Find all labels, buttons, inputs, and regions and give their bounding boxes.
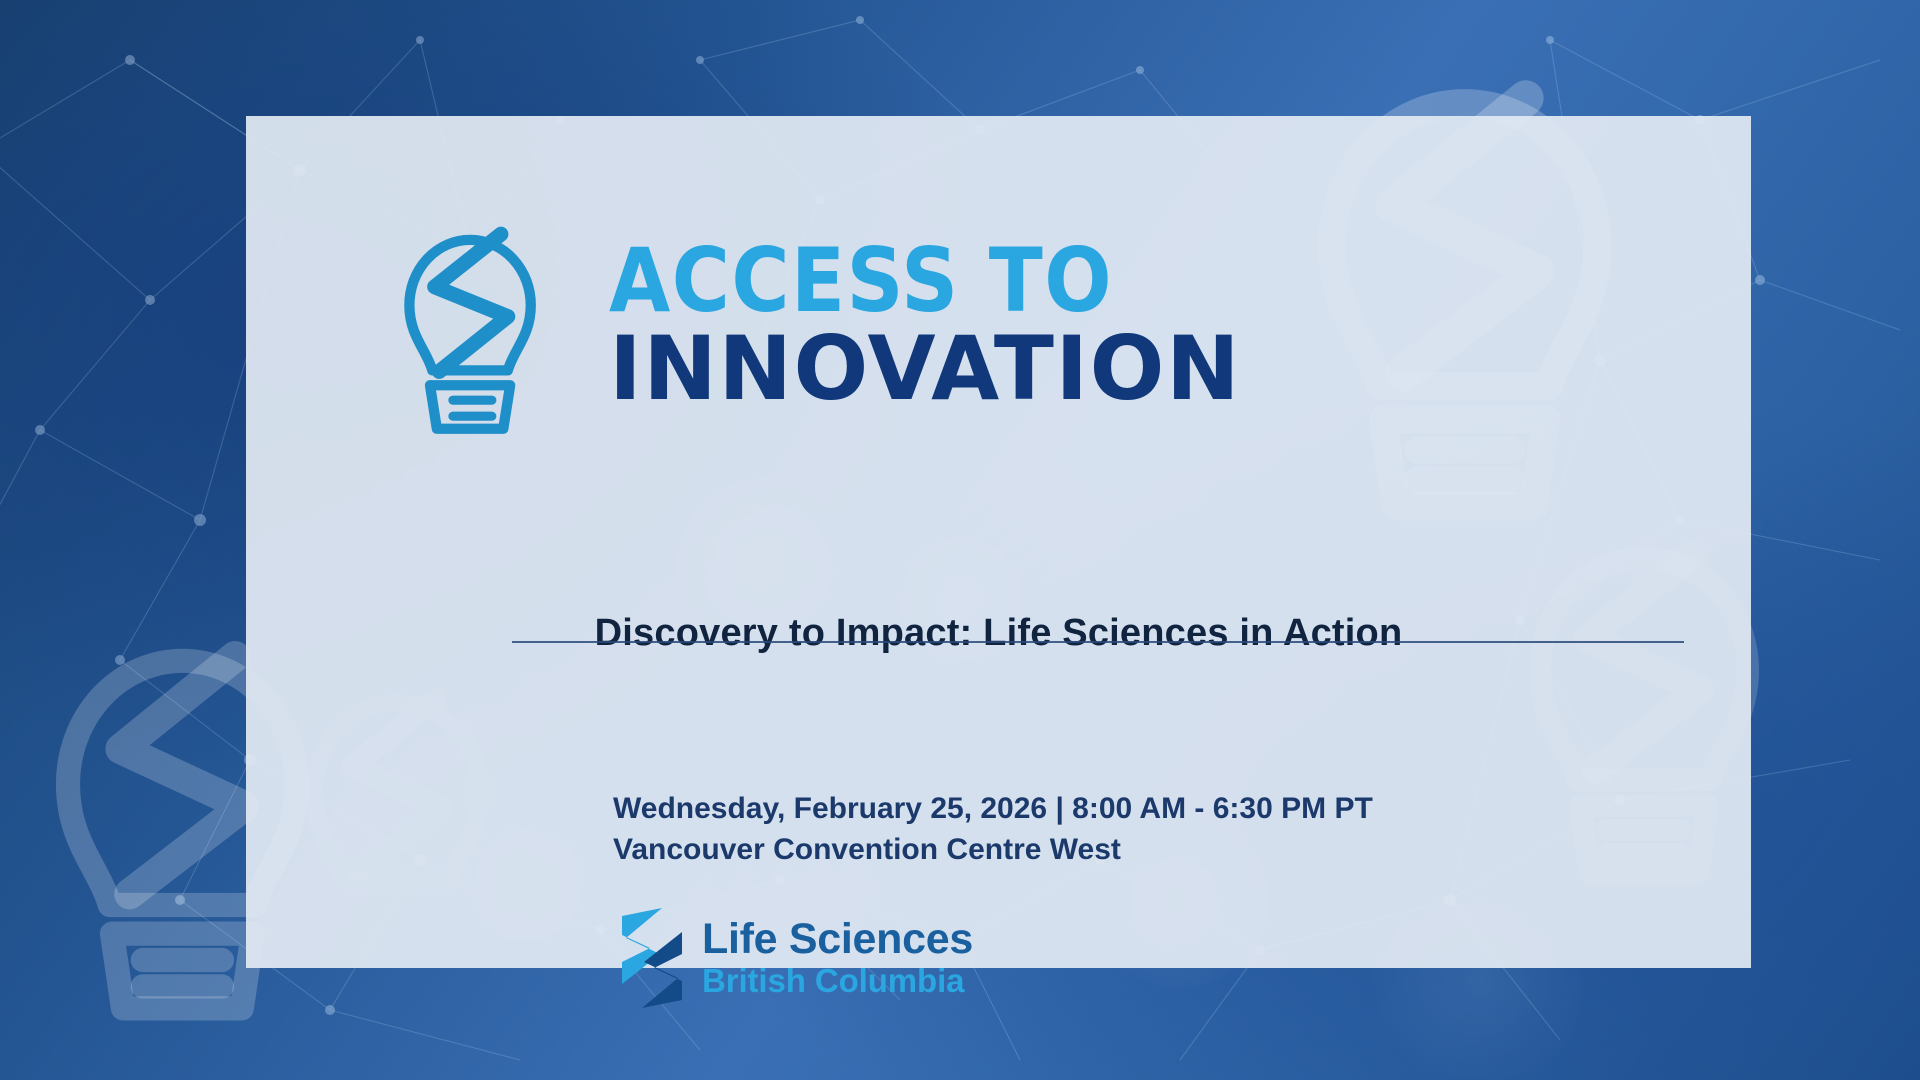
lsbc-logo-text: Life Sciences British Columbia [702, 918, 973, 999]
event-title-line-2: INNOVATION [609, 324, 1241, 414]
divider [512, 641, 1684, 643]
event-venue: Vancouver Convention Centre West [613, 829, 1373, 870]
logo-line-1: Life Sciences [702, 918, 973, 962]
event-details: Wednesday, February 25, 2026 | 8:00 AM -… [613, 788, 1373, 871]
headline-row: ACCESS TO INNOVATION [362, 158, 1241, 470]
logo-line-2: British Columbia [702, 964, 973, 999]
lsbc-dna-ribbon-mark-icon [616, 904, 688, 1012]
event-banner: ACCESS TO INNOVATION Discovery to Impact… [0, 0, 1920, 1080]
lsbc-logo: Life Sciences British Columbia [616, 904, 973, 1012]
event-title-line-1: ACCESS TO [609, 238, 1241, 324]
content-card: ACCESS TO INNOVATION Discovery to Impact… [246, 116, 1751, 968]
event-subtitle: Discovery to Impact: Life Sciences in Ac… [246, 612, 1751, 655]
event-datetime: Wednesday, February 25, 2026 | 8:00 AM -… [613, 788, 1373, 829]
title-block: ACCESS TO INNOVATION [609, 238, 1241, 414]
lightbulb-dna-icon [362, 170, 577, 470]
